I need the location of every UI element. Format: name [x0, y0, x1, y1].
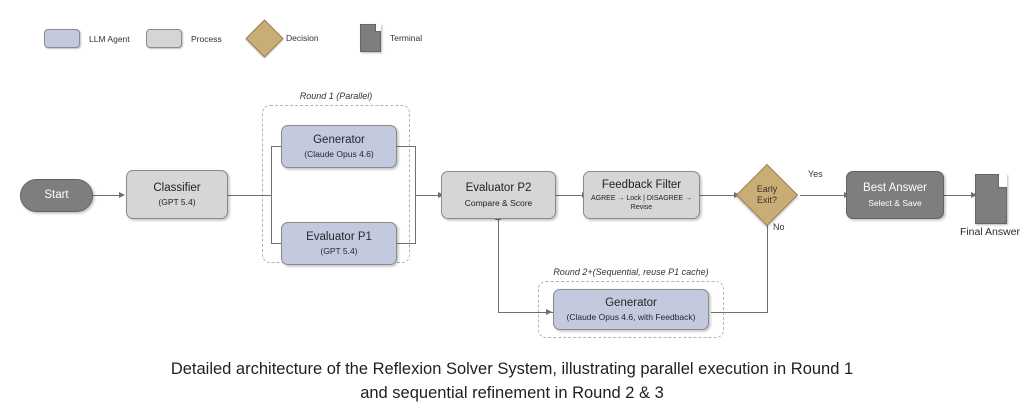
rounded-rect-swatch-icon [146, 29, 182, 48]
node-evaluator-p2-title: Evaluator P2 [466, 181, 532, 195]
node-best-answer-subtitle: Select & Save [868, 198, 921, 209]
node-generator-round-1-subtitle: (Claude Opus 4.6) [304, 149, 373, 160]
node-evaluator-p2[interactable]: Evaluator P2 Compare & Score [441, 171, 556, 219]
legend-label-decision: Decision [286, 33, 319, 43]
node-best-answer-title: Best Answer [863, 181, 927, 195]
connector-start-to-classifier [93, 195, 120, 196]
edge-label-yes: Yes [808, 169, 823, 179]
diamond-swatch-icon [245, 19, 283, 57]
legend-item-llm-agent: LLM Agent [44, 29, 130, 48]
node-early-exit-title: Early [757, 184, 778, 195]
group-label-round-2: Round 2+(Sequential, reuse P1 cache) [528, 267, 734, 277]
connector-generator-to-merge [397, 146, 416, 147]
figure-caption-line-1: Detailed architecture of the Reflexion S… [0, 358, 1024, 382]
node-evaluator-p1-subtitle: (GPT 5.4) [320, 246, 357, 257]
node-feedback-filter-title: Feedback Filter [602, 178, 681, 192]
node-start[interactable]: Start [20, 179, 93, 212]
node-classifier-title: Classifier [153, 181, 200, 195]
node-early-exit-subtitle: Exit? [757, 195, 777, 206]
node-generator-round-1-title: Generator [313, 133, 365, 147]
diamond-swatch-wrapper [248, 25, 280, 51]
node-generator-round-2[interactable]: Generator (Claude Opus 4.6, with Feedbac… [553, 289, 709, 330]
legend-label-llm-agent: LLM Agent [89, 34, 130, 44]
connector-feedback-filter-to-early-exit [700, 195, 736, 196]
connector-classifier-out [228, 195, 272, 196]
connector-loop-vertical [498, 219, 499, 313]
legend-item-terminal: Terminal [360, 24, 422, 52]
node-feedback-filter-subtitle: AGREE → Lock | DISAGREE → Revise [584, 194, 699, 212]
node-feedback-filter[interactable]: Feedback Filter AGREE → Lock | DISAGREE … [583, 171, 700, 219]
figure-caption-line-2: and sequential refinement in Round 2 & 3 [0, 382, 1024, 406]
arrowhead-start-to-classifier [119, 192, 125, 198]
node-classifier-subtitle: (GPT 5.4) [158, 197, 195, 208]
node-evaluator-p1[interactable]: Evaluator P1 (GPT 5.4) [281, 222, 397, 265]
connector-evaluator-p1-to-merge [397, 243, 416, 244]
connector-no-to-generator-r2 [711, 312, 768, 313]
connector-early-exit-yes [800, 195, 846, 196]
node-best-answer[interactable]: Best Answer Select & Save [846, 171, 944, 219]
node-start-title: Start [44, 188, 68, 202]
group-label-round-1: Round 1 (Parallel) [262, 91, 410, 101]
node-early-exit-label: Early Exit? [739, 179, 795, 211]
legend-item-process: Process [146, 29, 222, 48]
node-generator-round-1[interactable]: Generator (Claude Opus 4.6) [281, 125, 397, 168]
document-swatch-icon [360, 24, 381, 52]
edge-label-no: No [773, 222, 785, 232]
connector-early-exit-no-vertical [767, 224, 768, 313]
node-final-answer-label: Final Answer [938, 226, 1024, 238]
node-evaluator-p1-title: Evaluator P1 [306, 230, 372, 244]
legend-item-decision: Decision [248, 25, 319, 51]
legend-label-terminal: Terminal [390, 33, 422, 43]
rounded-rect-swatch-icon [44, 29, 80, 48]
node-classifier[interactable]: Classifier (GPT 5.4) [126, 170, 228, 219]
node-evaluator-p2-subtitle: Compare & Score [465, 198, 533, 209]
node-generator-round-2-title: Generator [605, 296, 657, 310]
connector-best-answer-to-final-answer [944, 195, 973, 196]
connector-evaluator-p2-to-feedback-filter [556, 195, 583, 196]
diagram-canvas: LLM Agent Process Decision Terminal Roun… [0, 0, 1024, 403]
figure-caption: Detailed architecture of the Reflexion S… [0, 358, 1024, 406]
legend-label-process: Process [191, 34, 222, 44]
connector-fanout-vertical [271, 146, 272, 244]
node-generator-round-2-subtitle: (Claude Opus 4.6, with Feedback) [567, 312, 696, 323]
node-final-answer-document-icon[interactable] [975, 174, 1007, 224]
arrowhead-into-generator-r2 [546, 309, 552, 315]
